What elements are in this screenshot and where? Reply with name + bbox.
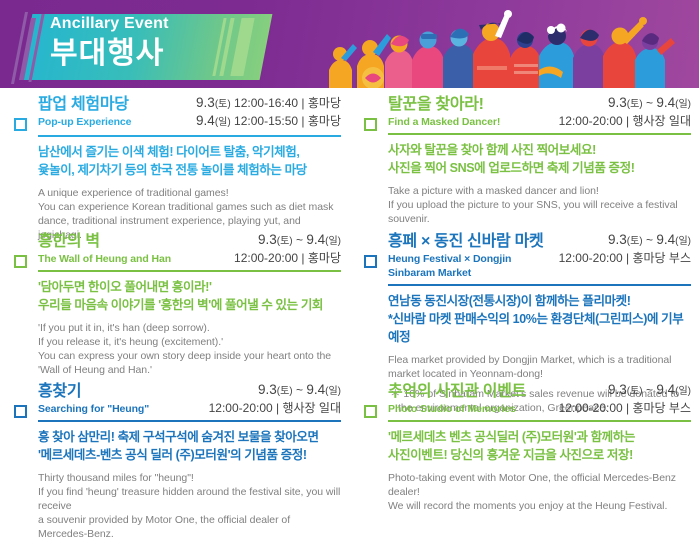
event-title-ko: 흥찾기 — [38, 382, 149, 401]
event-schedule: 9.3(토) ~ 9.4(일)12:00-20:00 | 행사장 일대 — [209, 379, 341, 416]
schedule-line: 9.4(일) 12:00-15:50 | 홍마당 — [196, 113, 341, 131]
event-header-row: 탈꾼을 찾아라!Find a Masked Dancer!9.3(토) ~ 9.… — [388, 92, 691, 129]
schedule-line: 9.3(토) 12:00-16:40 | 홍마당 — [196, 95, 341, 113]
event-title-ko: 팝업 체험마당 — [38, 95, 131, 114]
square-bullet-icon — [14, 405, 27, 418]
event-schedule: 9.3(토) 12:00-16:40 | 홍마당9.4(일) 12:00-15:… — [196, 92, 341, 131]
left-stripes-decoration — [16, 12, 46, 84]
square-bullet-icon — [14, 255, 27, 268]
event-schedule: 9.3(토) ~ 9.4(일)12:00-20:00 | 홍마당 — [234, 229, 341, 266]
event-title-en: Searching for "Heung" — [38, 402, 149, 416]
right-column: 탈꾼을 찾아라!Find a Masked Dancer!9.3(토) ~ 9.… — [350, 88, 699, 494]
event-title-en: Heung Festival × Dongjin Sinbaram Market — [388, 252, 559, 280]
crowd-silhouette-illustration — [269, 8, 699, 88]
event-schedule: 9.3(토) ~ 9.4(일)12:00-20:00 | 홍마당 부스 — [559, 379, 691, 416]
event-header-row: 팝업 체험마당Pop-up Experience9.3(토) 12:00-16:… — [38, 92, 341, 131]
event-title-group: 흥페 × 동진 신바람 마켓Heung Festival × Dongjin S… — [388, 229, 559, 280]
square-bullet-icon — [364, 118, 377, 131]
event-divider — [38, 420, 341, 422]
event-title-ko: 흥한의 벽 — [38, 232, 171, 251]
event-block-right-0[interactable]: 탈꾼을 찾아라!Find a Masked Dancer!9.3(토) ~ 9.… — [350, 92, 699, 226]
event-description-ko: 남산에서 즐기는 이색 체험! 다이어트 탈춤, 악기체험,윷놀이, 제기차기 … — [38, 143, 341, 179]
event-header-row: 흥페 × 동진 신바람 마켓Heung Festival × Dongjin S… — [388, 229, 691, 280]
event-description-en: Flea market provided by Dongjin Market, … — [388, 353, 691, 381]
event-header-row: 흥한의 벽The Wall of Heung and Han9.3(토) ~ 9… — [38, 229, 341, 266]
event-title-group: 팝업 체험마당Pop-up Experience — [38, 92, 131, 129]
event-description-ko: 흥 찾아 삼만리! 축제 구석구석에 숨겨진 보물을 찾아오면'메르세데츠-벤츠… — [38, 428, 341, 464]
schedule-line: 12:00-20:00 | 홍마당 부스 — [559, 400, 691, 416]
left-column: 팝업 체험마당Pop-up Experience9.3(토) 12:00-16:… — [0, 88, 349, 494]
event-title-ko: 흥페 × 동진 신바람 마켓 — [388, 232, 559, 251]
event-title-en: The Wall of Heung and Han — [38, 252, 171, 266]
event-divider — [388, 284, 691, 286]
event-description-en: Thirty thousand miles for "heung"!If you… — [38, 471, 341, 541]
page-header: Ancillary Event 부대행사 — [0, 0, 699, 88]
event-divider — [38, 135, 341, 137]
event-title-en: Pop-up Experience — [38, 115, 131, 129]
schedule-line: 9.3(토) ~ 9.4(일) — [234, 232, 341, 250]
schedule-line: 12:00-20:00 | 행사장 일대 — [209, 400, 341, 416]
event-title-group: 흥한의 벽The Wall of Heung and Han — [38, 229, 171, 266]
event-block-right-2[interactable]: 추억의 사진관 이벤트Photo Studio of Memories9.3(토… — [350, 379, 699, 513]
event-block-left-0[interactable]: 팝업 체험마당Pop-up Experience9.3(토) 12:00-16:… — [0, 92, 349, 242]
event-title-group: 추억의 사진관 이벤트Photo Studio of Memories — [388, 379, 526, 416]
schedule-line: 12:00-20:00 | 홍마당 부스 — [559, 250, 691, 266]
event-block-left-1[interactable]: 흥한의 벽The Wall of Heung and Han9.3(토) ~ 9… — [0, 229, 349, 377]
event-title-en: Find a Masked Dancer! — [388, 115, 500, 129]
event-description-en: Take a picture with a masked dancer and … — [388, 184, 691, 226]
event-description-ko: 연남동 동진시장(전통시장)이 함께하는 플리마켓!*신바람 마켓 판매수익의 … — [388, 292, 691, 346]
event-list-container: 팝업 체험마당Pop-up Experience9.3(토) 12:00-16:… — [0, 88, 699, 494]
square-bullet-icon — [364, 405, 377, 418]
event-description-ko: '담아두면 한이오 풀어내면 흥이라!'우리들 마음속 이야기를 '흥한의 벽'… — [38, 278, 341, 314]
event-header-row: 추억의 사진관 이벤트Photo Studio of Memories9.3(토… — [388, 379, 691, 416]
event-title-en: Photo Studio of Memories — [388, 402, 526, 416]
event-block-left-2[interactable]: 흥찾기Searching for "Heung"9.3(토) ~ 9.4(일)1… — [0, 379, 349, 541]
header-title-ko: 부대행사 — [50, 36, 169, 72]
event-divider — [388, 133, 691, 135]
event-description-en: 'If you put it in, it's han (deep sorrow… — [38, 321, 341, 377]
schedule-line: 9.3(토) ~ 9.4(일) — [559, 232, 691, 250]
schedule-line: 9.3(토) ~ 9.4(일) — [559, 95, 691, 113]
schedule-line: 12:00-20:00 | 홍마당 — [234, 250, 341, 266]
event-schedule: 9.3(토) ~ 9.4(일)12:00-20:00 | 홍마당 부스 — [559, 229, 691, 266]
event-title-ko: 탈꾼을 찾아라! — [388, 95, 500, 114]
event-description-en: Photo-taking event with Motor One, the o… — [388, 471, 691, 513]
header-title-en: Ancillary Event — [50, 14, 169, 34]
event-title-group: 탈꾼을 찾아라!Find a Masked Dancer! — [388, 92, 500, 129]
schedule-line: 9.3(토) ~ 9.4(일) — [559, 382, 691, 400]
square-bullet-icon — [14, 118, 27, 131]
event-title-group: 흥찾기Searching for "Heung" — [38, 379, 149, 416]
event-divider — [388, 420, 691, 422]
event-header-row: 흥찾기Searching for "Heung"9.3(토) ~ 9.4(일)1… — [38, 379, 341, 416]
event-description-ko: 사자와 탈꾼을 찾아 함께 사진 찍어보세요!사진을 찍어 SNS에 업로드하면… — [388, 141, 691, 177]
header-title-group: Ancillary Event 부대행사 — [50, 14, 169, 72]
schedule-line: 9.3(토) ~ 9.4(일) — [209, 382, 341, 400]
event-schedule: 9.3(토) ~ 9.4(일)12:00-20:00 | 행사장 일대 — [559, 92, 691, 129]
schedule-line: 12:00-20:00 | 행사장 일대 — [559, 113, 691, 129]
event-title-ko: 추억의 사진관 이벤트 — [388, 382, 526, 401]
event-description-ko: '메르세데츠 벤츠 공식딜러 (주)모터원'과 함께하는사진이벤트! 당신의 흥… — [388, 428, 691, 464]
square-bullet-icon — [364, 255, 377, 268]
event-divider — [38, 270, 341, 272]
banner-stripes-decoration — [208, 14, 267, 80]
